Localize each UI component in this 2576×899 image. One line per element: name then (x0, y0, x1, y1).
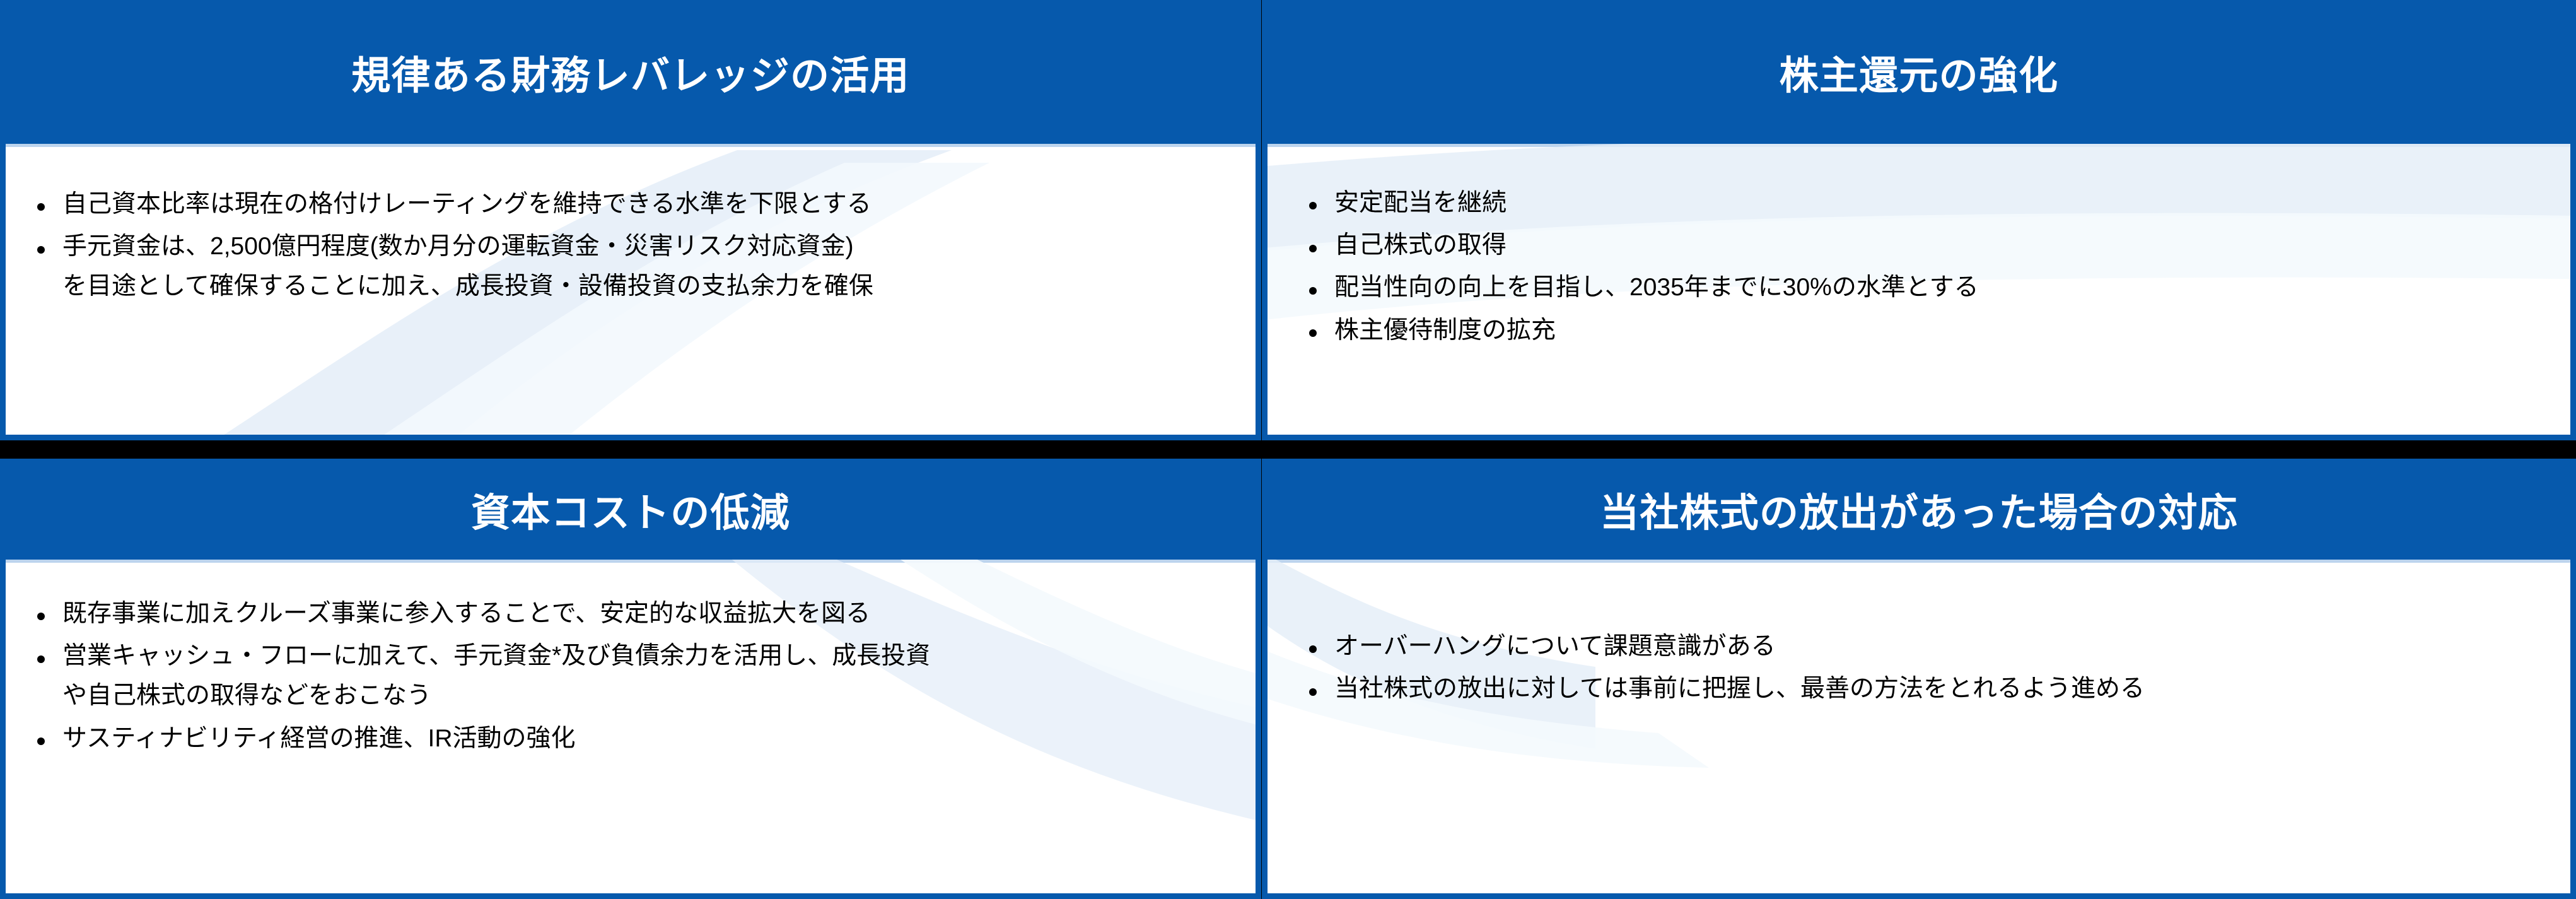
bullet-dot-icon (1309, 202, 1317, 209)
bullet-dot-icon (37, 655, 45, 663)
list-item: 株主優待制度の拡充 (1305, 310, 2545, 350)
quadrant-grid: 規律ある財務レバレッジの活用 自己資本比率は現在の格付けレーティングを維持できる… (0, 0, 2576, 899)
bullet-text-line: 株主優待制度の拡充 (1334, 310, 2545, 350)
bullet-text-line: 営業キャッシュ・フローに加えて、手元資金*及び負債余力を活用し、成長投資 (62, 636, 1230, 676)
horizontal-gutter-right (1262, 440, 2576, 459)
bullet-dot-icon (37, 203, 45, 211)
list-item: 配当性向の向上を目指し、2035年までに30%の水準とする (1305, 267, 2545, 307)
bullet-text-line: 既存事業に加えクルーズ事業に参入することで、安定的な収益拡大を図る (62, 594, 1230, 633)
bullet-text-line: オーバーハングについて課題意識がある (1334, 626, 2545, 666)
panel-cost-of-capital: 資本コストの低減 既存事業に加えクルーズ事業に参入することで、安定的な収益拡大を… (0, 459, 1261, 899)
bullet-dot-icon (1309, 329, 1317, 337)
list-item: 既存事業に加えクルーズ事業に参入することで、安定的な収益拡大を図る (33, 594, 1230, 633)
list-item: 当社株式の放出に対しては事前に把握し、最善の方法をとれるよう進める (1305, 669, 2545, 708)
bullet-dot-icon (1309, 688, 1317, 696)
horizontal-gutter-left (0, 440, 1261, 459)
panel-body-cost-of-capital: 既存事業に加えクルーズ事業に参入することで、安定的な収益拡大を図る 営業キャッシ… (0, 560, 1261, 899)
bullet-text-line: や自己株式の取得などをおこなう (62, 676, 1230, 715)
bullet-text-line: 当社株式の放出に対しては事前に把握し、最善の方法をとれるよう進める (1334, 669, 2545, 708)
bullet-dot-icon (1309, 645, 1317, 653)
list-item: 自己資本比率は現在の格付けレーティングを維持できる水準を下限とする (33, 184, 1230, 224)
panel-body-share-disposal-response: オーバーハングについて課題意識がある 当社株式の放出に対しては事前に把握し、最善… (1262, 560, 2576, 899)
bullet-list-shareholder-returns: 安定配当を継続 自己株式の取得 配当性向の向上を目指し、2035年までに30%の… (1268, 144, 2570, 350)
panel-body-financial-leverage: 自己資本比率は現在の格付けレーティングを維持できる水準を下限とする 手元資金は、… (0, 144, 1261, 440)
panel-title-financial-leverage: 規律ある財務レバレッジの活用 (0, 0, 1261, 144)
bullet-list-share-disposal-response: オーバーハングについて課題意識がある 当社株式の放出に対しては事前に把握し、最善… (1268, 560, 2570, 708)
bullet-list-cost-of-capital: 既存事業に加えクルーズ事業に参入することで、安定的な収益拡大を図る 営業キャッシ… (6, 560, 1256, 758)
list-item: 自己株式の取得 (1305, 225, 2545, 265)
panel-share-disposal-response: 当社株式の放出があった場合の対応 オーバーハングについて課題意識がある 当社株式… (1262, 459, 2576, 899)
bullet-dot-icon (37, 246, 45, 254)
bullet-dot-icon (1309, 245, 1317, 252)
bullet-dot-icon (37, 737, 45, 745)
bullet-text-line: 自己株式の取得 (1334, 225, 2545, 265)
panel-body-shareholder-returns: 安定配当を継続 自己株式の取得 配当性向の向上を目指し、2035年までに30%の… (1262, 144, 2576, 440)
panel-title-share-disposal-response: 当社株式の放出があった場合の対応 (1262, 459, 2576, 560)
list-item: オーバーハングについて課題意識がある (1305, 626, 2545, 666)
bullet-dot-icon (37, 613, 45, 620)
panel-title-cost-of-capital: 資本コストの低減 (0, 459, 1261, 560)
list-item: 営業キャッシュ・フローに加えて、手元資金*及び負債余力を活用し、成長投資 や自己… (33, 636, 1230, 715)
bullet-list-financial-leverage: 自己資本比率は現在の格付けレーティングを維持できる水準を下限とする 手元資金は、… (6, 144, 1256, 307)
bullet-text-line: を目途として確保することに加え、成長投資・設備投資の支払余力を確保 (62, 266, 1230, 306)
bullet-text-line: 安定配当を継続 (1334, 183, 2545, 223)
bullet-text-line: サスティナビリティ経営の推進、IR活動の強化 (62, 719, 1230, 758)
bullet-text-line: 自己資本比率は現在の格付けレーティングを維持できる水準を下限とする (62, 184, 1230, 224)
panel-financial-leverage: 規律ある財務レバレッジの活用 自己資本比率は現在の格付けレーティングを維持できる… (0, 0, 1261, 440)
panel-shareholder-returns: 株主還元の強化 安定配当を継続 自己株式の取得 配当性向の向上を目指し、2035… (1262, 0, 2576, 440)
list-item: 安定配当を継続 (1305, 183, 2545, 223)
list-item: サスティナビリティ経営の推進、IR活動の強化 (33, 719, 1230, 758)
bullet-text-line: 手元資金は、2,500億円程度(数か月分の運転資金・災害リスク対応資金) (62, 226, 1230, 266)
bullet-dot-icon (1309, 287, 1317, 295)
panel-title-shareholder-returns: 株主還元の強化 (1262, 0, 2576, 144)
list-item: 手元資金は、2,500億円程度(数か月分の運転資金・災害リスク対応資金) を目途… (33, 226, 1230, 306)
bullet-text-line: 配当性向の向上を目指し、2035年までに30%の水準とする (1334, 267, 2545, 307)
